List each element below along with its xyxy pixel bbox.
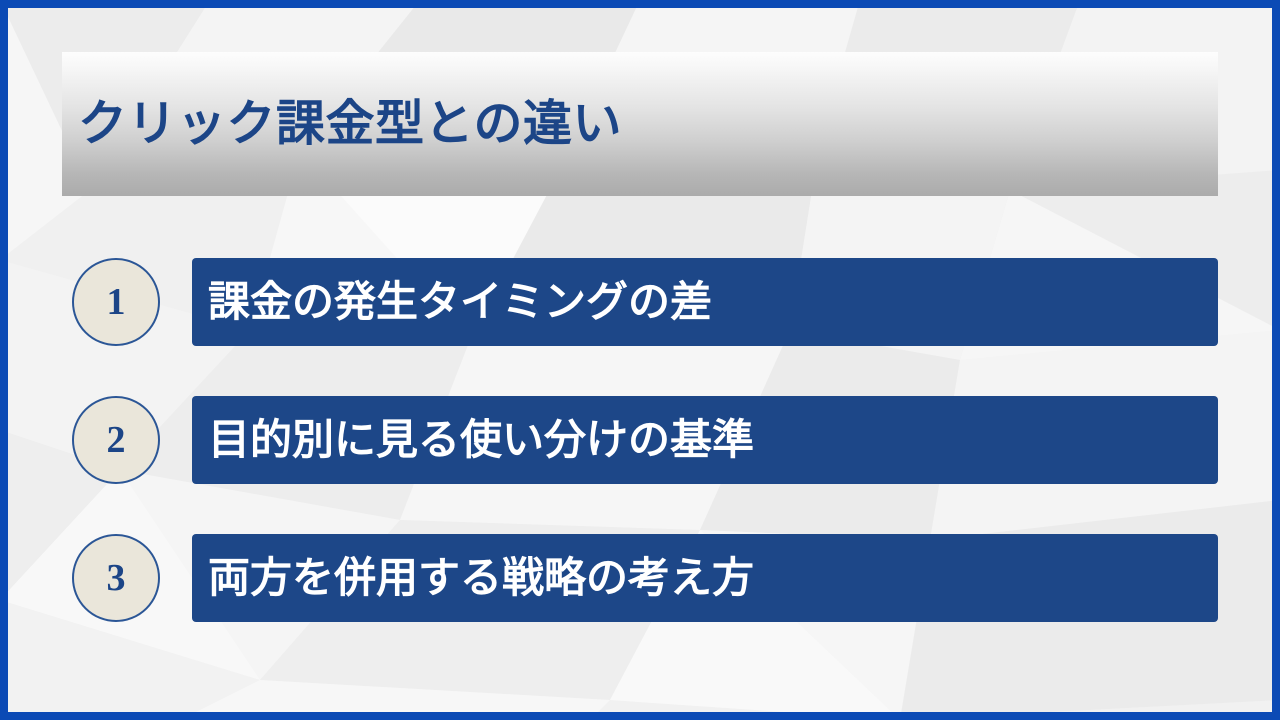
slide-root: クリック課金型との違い 1 課金の発生タイミングの差 2 目的別に見る使い分けの… — [0, 0, 1280, 720]
number-badge-3: 3 — [72, 534, 160, 622]
number-badge-1: 1 — [72, 258, 160, 346]
title-banner: クリック課金型との違い — [62, 52, 1218, 196]
item-label: 両方を併用する戦略の考え方 — [208, 557, 754, 599]
item-bar-3[interactable]: 両方を併用する戦略の考え方 — [192, 534, 1218, 622]
number-badge-label: 3 — [107, 559, 126, 597]
number-badge-2: 2 — [72, 396, 160, 484]
list-item[interactable]: 2 目的別に見る使い分けの基準 — [0, 396, 1280, 484]
number-badge-label: 2 — [107, 421, 126, 459]
page-title: クリック課金型との違い — [78, 100, 622, 149]
item-label: 課金の発生タイミングの差 — [208, 281, 712, 323]
agenda-list: 1 課金の発生タイミングの差 2 目的別に見る使い分けの基準 3 両方を併用する… — [0, 258, 1280, 622]
number-badge-label: 1 — [107, 283, 126, 321]
item-bar-2[interactable]: 目的別に見る使い分けの基準 — [192, 396, 1218, 484]
list-item[interactable]: 3 両方を併用する戦略の考え方 — [0, 534, 1280, 622]
list-item[interactable]: 1 課金の発生タイミングの差 — [0, 258, 1280, 346]
item-bar-1[interactable]: 課金の発生タイミングの差 — [192, 258, 1218, 346]
item-label: 目的別に見る使い分けの基準 — [208, 419, 754, 461]
